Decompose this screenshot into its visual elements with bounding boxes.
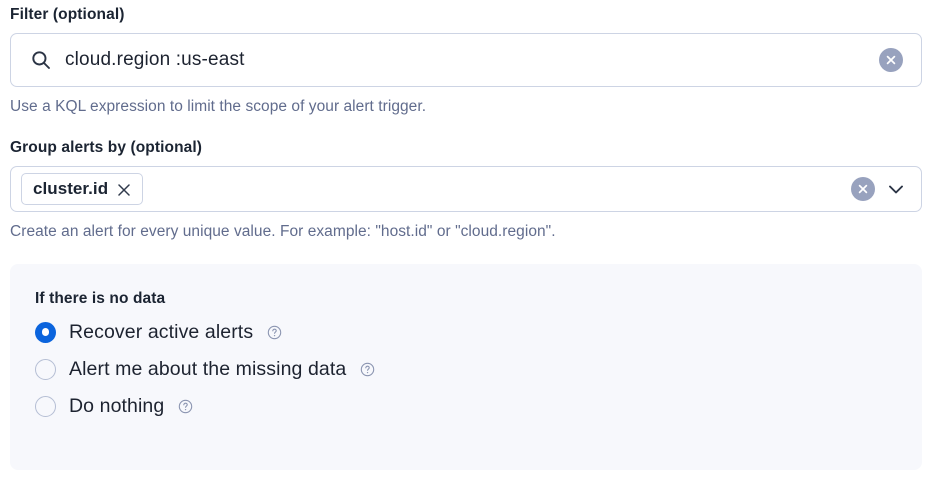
- radio-label: Alert me about the missing data: [69, 358, 346, 380]
- search-icon: [30, 49, 52, 71]
- group-alerts-pill-label: cluster.id: [33, 179, 108, 199]
- alert-rule-form: Filter (optional) cloud.region :us-east …: [0, 0, 932, 501]
- no-data-panel: If there is no data Recover active alert…: [10, 264, 922, 470]
- question-mark-circle-icon[interactable]: [267, 325, 282, 340]
- group-alerts-clear-button[interactable]: [851, 177, 875, 201]
- group-alerts-help-text: Create an alert for every unique value. …: [10, 222, 922, 242]
- radio-option-recover-active-alerts[interactable]: Recover active alerts: [35, 321, 922, 343]
- group-alerts-label: Group alerts by (optional): [10, 139, 922, 157]
- group-alerts-actions: [851, 177, 907, 201]
- group-alerts-combobox[interactable]: cluster.id: [10, 166, 922, 212]
- filter-help-text: Use a KQL expression to limit the scope …: [10, 97, 922, 117]
- radio-button[interactable]: [35, 396, 56, 417]
- question-mark-circle-icon[interactable]: [178, 399, 193, 414]
- filter-field-group: Filter (optional) cloud.region :us-east …: [10, 0, 922, 117]
- question-mark-circle-icon[interactable]: [360, 362, 375, 377]
- radio-button[interactable]: [35, 359, 56, 380]
- filter-label: Filter (optional): [10, 6, 922, 24]
- radio-option-alert-me-missing-data[interactable]: Alert me about the missing data: [35, 358, 922, 380]
- group-alerts-field-group: Group alerts by (optional) cluster.id: [10, 117, 922, 242]
- close-icon[interactable]: [117, 182, 131, 196]
- group-alerts-pill-cluster-id[interactable]: cluster.id: [21, 173, 143, 205]
- radio-button[interactable]: [35, 322, 56, 343]
- filter-clear-button[interactable]: [879, 48, 903, 72]
- radio-label: Do nothing: [69, 395, 164, 417]
- filter-input[interactable]: cloud.region :us-east: [10, 33, 922, 87]
- filter-input-value[interactable]: cloud.region :us-east: [11, 49, 315, 71]
- chevron-down-icon[interactable]: [885, 178, 907, 200]
- no-data-title: If there is no data: [35, 290, 922, 308]
- no-data-radio-group: Recover active alerts Alert me about the…: [35, 321, 922, 417]
- radio-label: Recover active alerts: [69, 321, 253, 343]
- radio-option-do-nothing[interactable]: Do nothing: [35, 395, 922, 417]
